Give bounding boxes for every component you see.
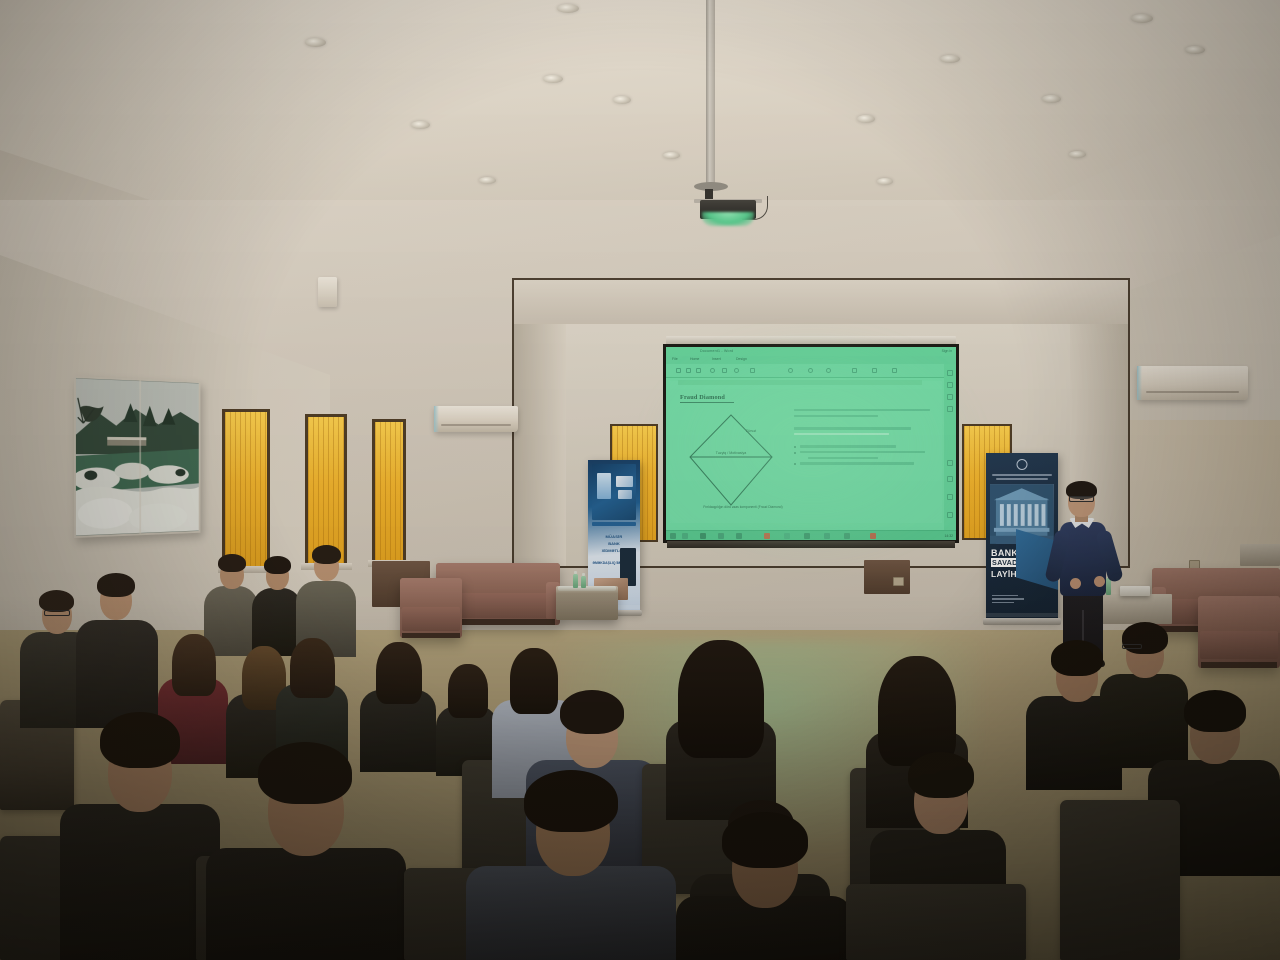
window-left-1 (222, 409, 270, 569)
audience-hair (290, 638, 335, 698)
app-ribbon-toolbar (666, 364, 956, 378)
water-bottle[interactable] (581, 576, 586, 588)
text-box-icon[interactable] (852, 368, 857, 373)
audience-hair (1122, 622, 1168, 654)
app-title-text: Document1 - Word (700, 349, 733, 353)
insert-smartart-icon[interactable] (826, 368, 831, 373)
find-icon[interactable] (892, 368, 897, 373)
audience-hair (448, 664, 488, 718)
diamond-label-top: Fürsət (734, 429, 768, 433)
contact-line (992, 602, 1014, 603)
sofa-backrest (1198, 596, 1280, 633)
audience-hair (218, 554, 246, 572)
painting-panel-divider (139, 381, 141, 534)
fraud-diamond-diagram: Fürsət Təzyiq / Motivasiya (688, 409, 774, 511)
taskbar-clock: 14:32 (945, 534, 954, 538)
audience-member (676, 812, 852, 960)
ribbon-tab-insert[interactable]: Insert (712, 357, 721, 361)
sofa-legs (1201, 662, 1276, 668)
painting-artwork (76, 378, 199, 536)
projector-mount-pole (706, 0, 715, 188)
contact-line (992, 595, 1018, 596)
powerpoint-app-icon[interactable] (804, 533, 810, 539)
pdf-app-icon[interactable] (870, 533, 876, 539)
audience-hair (908, 752, 974, 798)
wall-speaker (318, 277, 337, 307)
excel-app-icon[interactable] (718, 533, 724, 539)
settings-icon[interactable] (844, 533, 850, 539)
italic-icon[interactable] (686, 368, 691, 373)
audience-member (206, 742, 406, 960)
audience-hair (1051, 640, 1103, 676)
sidebar-icon[interactable] (947, 370, 953, 376)
audience-torso (206, 848, 406, 960)
ac-side-panel (1137, 366, 1142, 400)
app-signin-text: Sign in (942, 349, 952, 353)
audience-hair (264, 556, 291, 574)
projector-lens-glow (702, 212, 754, 226)
banner-left-atm-graphic (597, 473, 611, 499)
audience-hair (258, 742, 352, 804)
ac-vent (441, 424, 512, 426)
bullet-item (794, 445, 930, 447)
ceiling-downlight (305, 38, 326, 47)
sidebar-icon[interactable] (947, 382, 953, 388)
document-ruler (678, 380, 922, 385)
ceiling-downlight (1069, 151, 1086, 158)
sidebar-icon[interactable] (947, 394, 953, 400)
windows-taskbar: 14:32 (666, 530, 956, 540)
armchair-backrest (400, 578, 462, 609)
body-text-line (794, 409, 930, 411)
audience-hair (312, 545, 341, 564)
armchair-legs (402, 633, 459, 638)
window-left-2 (305, 414, 347, 566)
audience-torso (466, 866, 676, 960)
contact-line (992, 598, 1024, 599)
sidebar-icon[interactable] (947, 406, 953, 412)
presenter-hand (1094, 576, 1105, 587)
app-ribbon-tabs: File Home Insert Design (666, 356, 956, 364)
bullet-item (794, 451, 930, 459)
sidebar-icon[interactable] (947, 512, 953, 518)
window-blind[interactable] (225, 412, 267, 566)
glasses-icon (1122, 644, 1142, 649)
insert-shape-icon[interactable] (788, 368, 793, 373)
diamond-label-center: Təzyiq / Motivasiya (702, 451, 760, 455)
banner-left-card-graphic (616, 476, 633, 487)
audience-hair (39, 590, 74, 612)
ribbon-tab-home[interactable]: Home (690, 357, 699, 361)
banner-left-title-line2: BANK (608, 541, 620, 546)
audience-hair (524, 770, 618, 832)
search-icon[interactable] (682, 533, 688, 539)
sidebar-icon[interactable] (947, 494, 953, 500)
ceiling-downlight (557, 4, 579, 13)
water-bottle[interactable] (573, 574, 578, 588)
armchair-seat-cushion (402, 607, 460, 631)
bottle-cap (574, 571, 577, 574)
alcove-left-return (514, 292, 566, 566)
body-text-line (794, 427, 911, 429)
audience-hair (678, 640, 764, 758)
ceiling-downlight (857, 115, 875, 123)
slide-title-underline (680, 402, 734, 403)
audience-hair (100, 712, 180, 768)
audience-hair (376, 642, 422, 704)
ceiling-downlight (411, 121, 430, 129)
audience-hair (722, 812, 808, 868)
conference-hall-photo: Document1 - Word Sign in File Home Inser… (0, 0, 1280, 960)
ceiling-downlight (613, 96, 631, 104)
audience-chair[interactable] (846, 884, 1026, 960)
word-app-icon[interactable] (700, 533, 706, 539)
projected-image: Document1 - Word Sign in File Home Inser… (666, 347, 956, 540)
alcove-soffit (514, 280, 1128, 324)
app-right-sidebar[interactable] (944, 364, 956, 530)
ceiling-downlight (663, 152, 680, 159)
audience-hair (97, 573, 135, 597)
slide-title: Fraud Diamond (680, 394, 725, 401)
ceiling-downlight (479, 177, 496, 184)
armchair-left (400, 578, 462, 638)
air-conditioner-left (434, 406, 518, 432)
wall-outlet[interactable] (893, 577, 904, 586)
insert-chart-icon[interactable] (808, 368, 813, 373)
underline-icon[interactable] (696, 368, 701, 373)
styles-icon[interactable] (872, 368, 877, 373)
banner-left-title-line1: MÜASİR (606, 534, 623, 539)
body-text-highlight (794, 433, 889, 435)
screen-bottom-rail (667, 541, 955, 548)
banner-left-title-2: BANK (588, 541, 640, 546)
audience-member (666, 640, 776, 820)
ceiling-downlight (940, 55, 960, 63)
chat-app-icon[interactable] (824, 533, 830, 539)
sidebar-icon[interactable] (947, 476, 953, 482)
banner-right-title-line1: BANK (991, 548, 1018, 558)
diamond-caption-text: Fırıldaqçılığın dörd əsas komponenti (Fr… (703, 505, 782, 509)
audience-chair[interactable] (1060, 800, 1180, 960)
sofa-right-near (1198, 596, 1280, 668)
body-text-line (794, 415, 878, 417)
ceiling-downlight (877, 178, 893, 185)
window-left-3 (372, 419, 406, 563)
side-console-right (1240, 544, 1280, 566)
explorer-icon[interactable] (736, 533, 742, 539)
air-conditioner-right (1137, 366, 1248, 400)
shape-oval-icon[interactable] (734, 368, 739, 373)
shape-circle-icon[interactable] (710, 368, 715, 373)
window-blind[interactable] (375, 422, 403, 560)
audience-hair (1184, 690, 1246, 732)
coffee-table-left (556, 586, 618, 620)
media-app-icon[interactable] (764, 533, 770, 539)
ceiling-downlight (1042, 95, 1061, 103)
audience-hair (172, 634, 216, 696)
banner-org-line (996, 478, 1048, 480)
bold-icon[interactable] (676, 368, 681, 373)
ceiling-downlight (1185, 46, 1205, 54)
banner-right-contact-block (992, 593, 1024, 605)
bank-logo-icon (1017, 459, 1028, 470)
table-top-surface (558, 586, 616, 591)
audience-member (76, 572, 158, 728)
projection-screen: Document1 - Word Sign in File Home Inser… (663, 344, 959, 543)
ribbon-tab-file[interactable]: File (672, 357, 678, 361)
bottle-cap (582, 573, 585, 576)
diamond-caption: Fırıldaqçılığın dörd əsas komponenti (Fr… (700, 505, 786, 509)
app-titlebar: Document1 - Word Sign in (666, 347, 956, 356)
banner-left-title: MÜASİR (588, 534, 640, 539)
audience-hair (878, 656, 956, 766)
slide-body-text (794, 409, 930, 468)
ac-vent (1146, 391, 1239, 393)
wall-painting (74, 376, 200, 538)
audience-member (466, 770, 676, 960)
bullet-item (794, 462, 930, 464)
ceiling-downlight (1131, 14, 1153, 23)
glasses-icon (1069, 496, 1094, 502)
ac-side-panel (434, 406, 439, 432)
banner-org-line (992, 474, 1053, 476)
align-left-icon[interactable] (750, 368, 755, 373)
presenter-hand (1070, 578, 1081, 589)
banner-left-card-graphic (618, 490, 632, 499)
audience-hair (560, 690, 624, 734)
sidebar-icon[interactable] (947, 460, 953, 466)
glasses-icon (44, 610, 70, 616)
browser-icon[interactable] (784, 533, 790, 539)
sofa-seat-cushion (1200, 631, 1277, 660)
window-blind[interactable] (308, 417, 344, 563)
banner-left-accent-bar (592, 522, 636, 526)
ribbon-tab-design[interactable]: Design (736, 357, 747, 361)
shape-square-icon[interactable] (722, 368, 727, 373)
ceiling-downlight (543, 75, 563, 83)
start-icon[interactable] (670, 533, 676, 539)
